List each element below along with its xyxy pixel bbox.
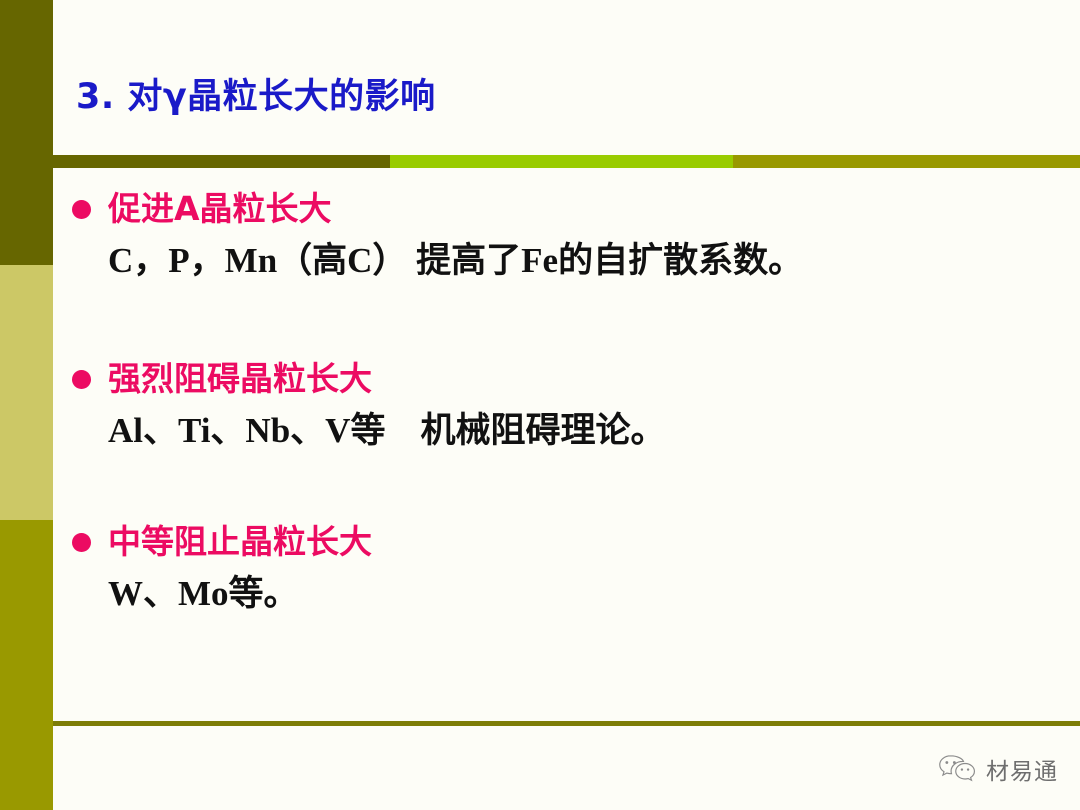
bullet-heading-row-3: 中等阻止晶粒长大 <box>72 521 1052 562</box>
slide-canvas: 3. 对γ晶粒长大的影响 促进A晶粒长大 C，P，Mn（高C） 提高了Fe的自扩… <box>0 0 1080 810</box>
bullet-heading-row-2: 强烈阻碍晶粒长大 <box>72 358 1052 399</box>
bullet-heading-1: 促进A晶粒长大 <box>108 188 332 229</box>
bullet-body-3: W、Mo等。 <box>108 572 1052 616</box>
footer-logo-text: 材易通 <box>986 752 1058 786</box>
sidebar-band-light-olive <box>0 265 53 520</box>
footer-divider <box>53 721 1080 726</box>
bullet-dot-icon <box>72 533 91 552</box>
footer-watermark: 材易通 <box>937 752 1058 786</box>
slide-title: 3. 对γ晶粒长大的影响 <box>76 68 436 119</box>
divider-segment-dark <box>0 155 390 168</box>
divider-segment-olive <box>733 155 1080 168</box>
bullet-body-1: C，P，Mn（高C） 提高了Fe的自扩散系数。 <box>108 239 1052 283</box>
bullet-block-3: 中等阻止晶粒长大 W、Mo等。 <box>72 521 1052 616</box>
bullet-heading-2: 强烈阻碍晶粒长大 <box>108 358 372 399</box>
bullet-body-2: Al、Ti、Nb、V等 机械阻碍理论。 <box>108 409 1052 453</box>
sidebar-band-dark-olive <box>0 0 53 265</box>
bullet-dot-icon <box>72 370 91 389</box>
header-divider <box>0 155 1080 168</box>
bullet-heading-3: 中等阻止晶粒长大 <box>108 521 372 562</box>
bullet-block-2: 强烈阻碍晶粒长大 Al、Ti、Nb、V等 机械阻碍理论。 <box>72 358 1052 453</box>
bullet-heading-row-1: 促进A晶粒长大 <box>72 188 1052 229</box>
sidebar-band-olive <box>0 520 53 810</box>
wechat-icon <box>937 753 977 785</box>
bullet-dot-icon <box>72 200 91 219</box>
divider-segment-bright-green <box>390 155 733 168</box>
bullet-block-1: 促进A晶粒长大 C，P，Mn（高C） 提高了Fe的自扩散系数。 <box>72 188 1052 283</box>
